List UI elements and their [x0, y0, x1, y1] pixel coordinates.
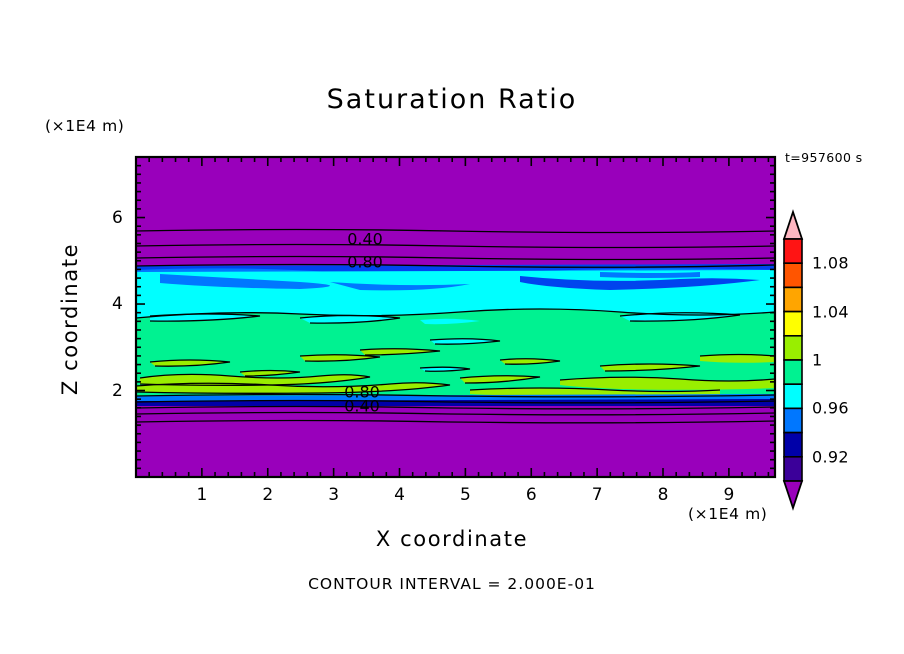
x-tick-label: 7	[592, 485, 603, 505]
x-tick-label: 5	[460, 485, 471, 505]
contour-label: 0.40	[347, 230, 383, 249]
x-tick-label: 8	[658, 485, 669, 505]
colorbar-cell	[784, 384, 802, 408]
colorbar-cell	[784, 433, 802, 457]
colorbar-cap-bottom	[784, 481, 802, 508]
x-tick-label: 2	[262, 485, 273, 505]
contour-label: 0.80	[347, 253, 383, 272]
colorbar-tick-label: 1.04	[812, 302, 849, 321]
x-tick-label: 4	[394, 485, 405, 505]
colorbar-cells	[784, 239, 802, 481]
x-tick-label: 1	[196, 485, 207, 505]
colorbar-cell	[784, 360, 802, 384]
y-tick-label: 2	[112, 381, 123, 401]
y-tick-label: 6	[112, 208, 123, 228]
contour-field	[136, 157, 775, 477]
colorbar-cell	[784, 287, 802, 311]
colorbar[interactable]	[784, 212, 802, 508]
colorbar-cap-top	[784, 212, 802, 239]
x-tick-label: 9	[723, 485, 734, 505]
colorbar-cell	[784, 408, 802, 432]
colorbar-cell	[784, 239, 802, 263]
colorbar-tick-label: 1	[812, 351, 822, 370]
colorbar-cell	[784, 336, 802, 360]
y-tick-label: 4	[112, 294, 123, 314]
x-tick-label: 6	[526, 485, 537, 505]
colorbar-cell	[784, 312, 802, 336]
colorbar-cell	[784, 457, 802, 481]
contour-label: 0.40	[344, 397, 380, 416]
colorbar-cell	[784, 263, 802, 287]
plot-canvas: Saturation Ratio (×1E4 m) (×1E4 m) t=957…	[0, 0, 904, 654]
colorbar-tick-label: 1.08	[812, 254, 849, 273]
x-tick-label: 3	[328, 485, 339, 505]
contour-plot-svg	[0, 0, 904, 654]
colorbar-tick-label: 0.92	[812, 447, 849, 466]
colorbar-tick-label: 0.96	[812, 399, 849, 418]
